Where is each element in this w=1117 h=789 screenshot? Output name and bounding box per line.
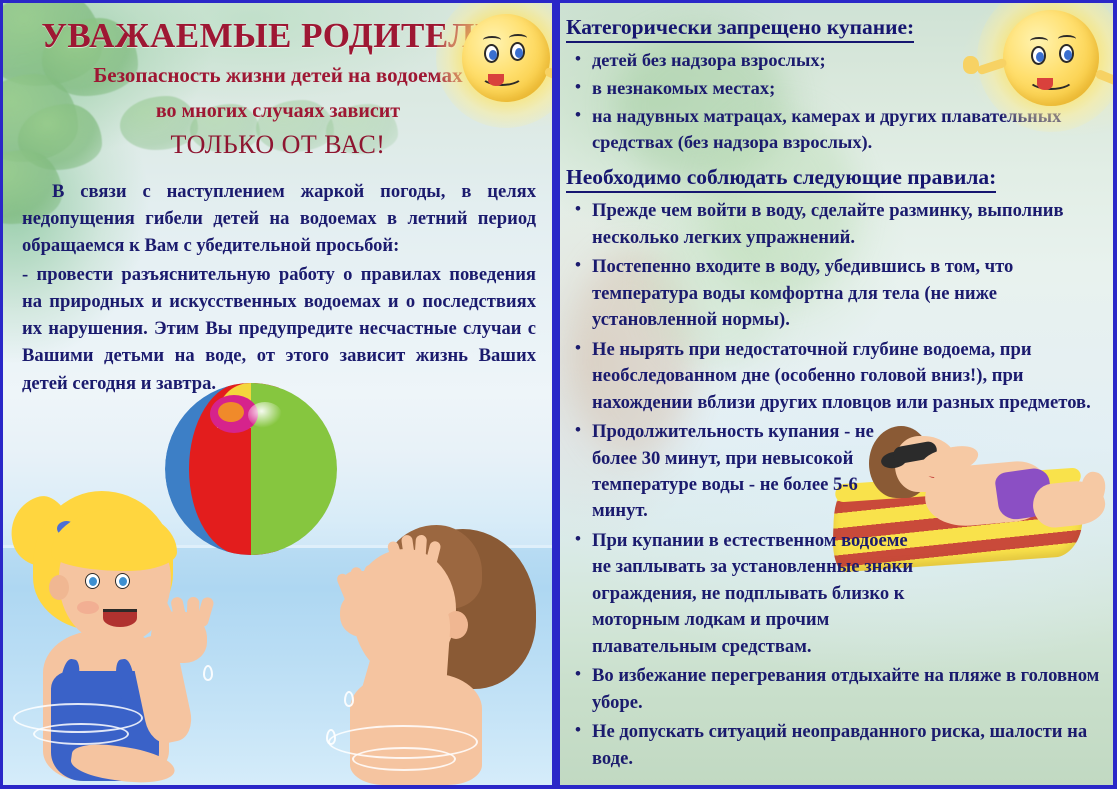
sun-disc-icon <box>462 14 550 102</box>
body-paragraph: В связи с наступлением жаркой погоды, в … <box>22 178 536 260</box>
rules-list: Прежде чем войти в воду, сделайте размин… <box>566 198 1103 772</box>
sun-disc-icon <box>1003 10 1099 106</box>
sun-hand-left-icon <box>963 56 979 74</box>
list-item: Не допускать ситуаций неоправданного рис… <box>566 719 1103 772</box>
sun-eye-left-icon <box>484 44 499 63</box>
list-item: Не нырять при недостаточной глубине водо… <box>566 337 1103 416</box>
right-panel: Категорически запрещено купание: детей б… <box>556 0 1117 789</box>
children-playing-ball-illustration <box>3 375 552 785</box>
sun-character-icon <box>1003 10 1099 106</box>
left-panel: УВАЖАЕМЫЕ РОДИТЕЛИ! Безопасность жизни д… <box>0 0 556 789</box>
subtitle-line-3: ТОЛЬКО ОТ ВАС! <box>0 130 556 160</box>
list-item: Прежде чем войти в воду, сделайте размин… <box>566 198 1103 251</box>
sun-brow-left-icon <box>483 36 501 44</box>
water-droplet <box>326 729 336 745</box>
sun-brow-right-icon <box>1058 35 1076 43</box>
heading-forbidden-bathing: Категорически запрещено купание: <box>566 15 914 43</box>
water-droplet <box>203 665 213 681</box>
left-panel-body: В связи с наступлением жаркой погоды, в … <box>0 178 556 397</box>
water-ripple <box>33 723 129 745</box>
sun-brow-right-icon <box>509 34 527 42</box>
list-item: Продолжительность купания - не более 30 … <box>566 419 888 525</box>
sun-eye-left-icon <box>1031 46 1046 65</box>
sun-tongue-icon <box>1037 78 1053 90</box>
water-ripple <box>352 747 456 771</box>
sun-eye-right-icon <box>510 42 525 61</box>
list-item: При купании в естественном водоеме не за… <box>566 528 920 660</box>
list-item: Постепенно входите в воду, убедившись в … <box>566 254 1103 333</box>
water-droplet <box>344 691 354 707</box>
list-item: Во избежание перегревания отдыхайте на п… <box>566 663 1103 716</box>
heading-required-rules: Необходимо соблюдать следующие правила: <box>566 165 996 193</box>
sun-eye-right-icon <box>1059 44 1074 63</box>
sun-brow-left-icon <box>1030 37 1048 45</box>
sun-character-icon <box>462 14 550 102</box>
body-paragraph: - провести разъяснительную работу о прав… <box>22 261 536 397</box>
safety-poster: УВАЖАЕМЫЕ РОДИТЕЛИ! Безопасность жизни д… <box>0 0 1117 789</box>
sun-tongue-icon <box>488 74 504 86</box>
